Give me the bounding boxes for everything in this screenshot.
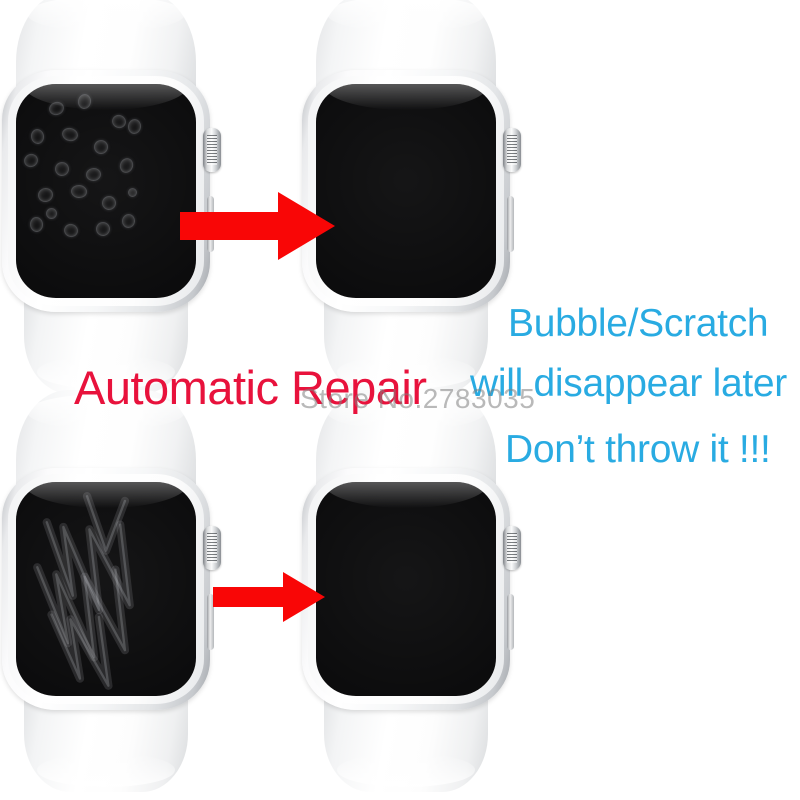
top-arrow-icon	[180, 190, 335, 262]
bubble-defect	[128, 188, 137, 197]
watch-case	[302, 468, 510, 710]
digital-crown-icon	[503, 526, 521, 570]
watch-case	[2, 70, 210, 312]
screen-vignette	[316, 84, 496, 298]
digital-crown-icon	[203, 526, 221, 570]
product-image-canvas: Automatic Repair Bubble/Scratch will dis…	[0, 0, 800, 800]
watch-screen-scratched	[16, 482, 196, 696]
screen-vignette	[316, 482, 496, 696]
bubble-defect	[94, 140, 108, 154]
side-button-icon	[507, 594, 514, 650]
watch-bottom-left-damaged	[0, 390, 226, 790]
watch-case	[2, 468, 210, 710]
watch-screen-clean	[316, 84, 496, 298]
watch-screen-damaged	[16, 84, 196, 298]
store-watermark: Store No.2783035	[300, 383, 535, 415]
scratch-defect-layer	[16, 482, 196, 696]
bubble-defect	[46, 208, 57, 219]
digital-crown-icon	[203, 128, 221, 172]
bottom-arrow-icon	[213, 571, 325, 623]
digital-crown-icon	[503, 128, 521, 172]
blue-line-bubble-scratch: Bubble/Scratch	[508, 302, 768, 346]
watch-screen-clean	[316, 482, 496, 696]
side-button-icon	[507, 196, 514, 252]
blue-line-dont-throw-it: Don’t throw it !!!	[505, 428, 771, 472]
